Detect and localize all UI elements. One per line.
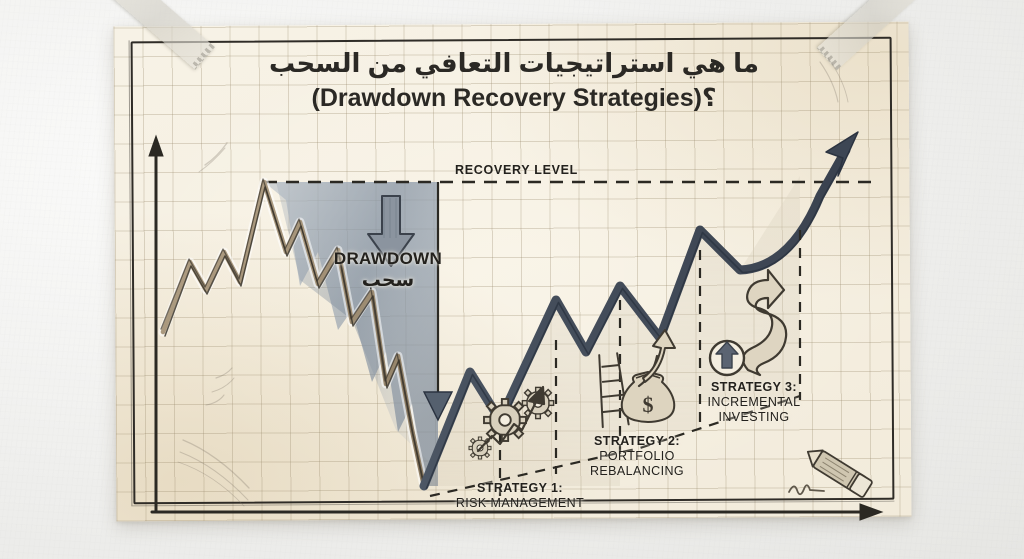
x-axis-arrow (860, 504, 882, 520)
pencil-icon (789, 444, 873, 498)
infographic-canvas: ما هي استراتيجيات التعافي من السحب ؟(Dra… (0, 0, 1024, 559)
circled-up-arrow-icon (710, 341, 744, 375)
chart-drawing: $ (0, 0, 1024, 559)
y-axis-arrow (149, 136, 163, 156)
svg-text:$: $ (643, 392, 654, 417)
